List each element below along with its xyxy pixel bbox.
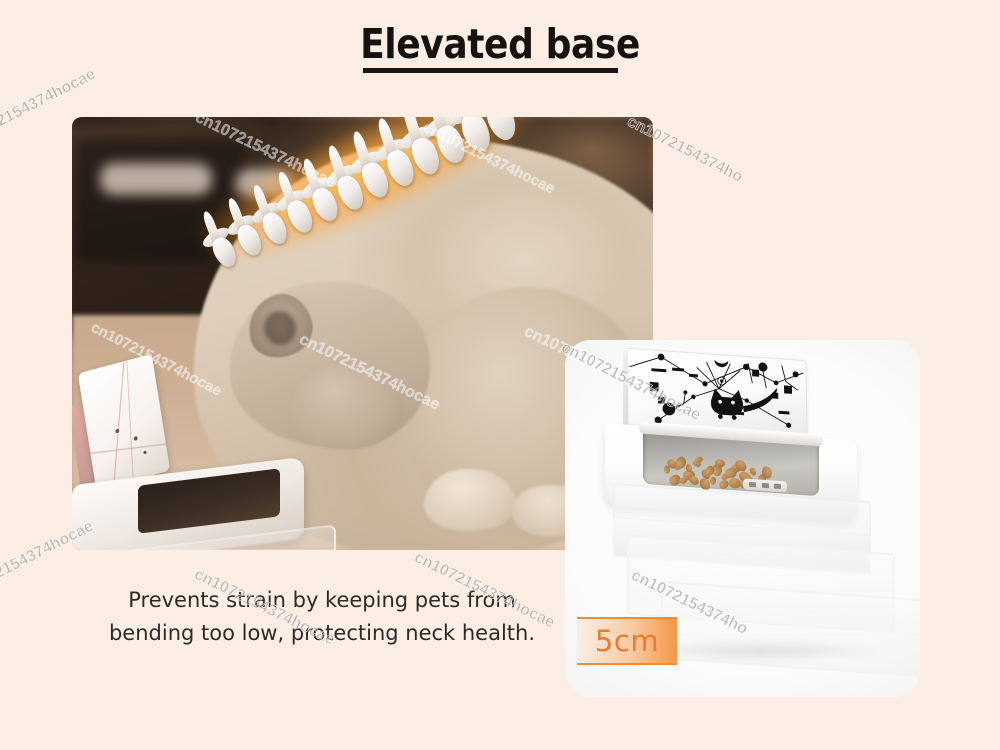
kibble-piece bbox=[688, 474, 701, 486]
page-root: Elevated base bbox=[0, 0, 1000, 750]
title-underline-rule bbox=[363, 68, 618, 73]
cat-paw-front bbox=[424, 469, 516, 531]
product-base-tier-3 bbox=[661, 581, 920, 677]
size-badge: 5cm bbox=[577, 617, 677, 665]
page-title: Elevated base bbox=[360, 24, 640, 65]
kibble-piece bbox=[761, 466, 772, 479]
size-badge-label: 5cm bbox=[595, 627, 659, 656]
kibble-piece bbox=[709, 476, 717, 486]
control-button-3[interactable] bbox=[774, 484, 781, 489]
caption-line-2: bending too low, protecting neck health. bbox=[72, 617, 572, 650]
title-block: Elevated base bbox=[0, 24, 1000, 65]
hero-feeder bbox=[72, 363, 372, 550]
control-button-1[interactable] bbox=[749, 482, 756, 487]
control-button-2[interactable] bbox=[762, 483, 769, 488]
caption-line-1: Prevents strain by keeping pets from bbox=[72, 584, 572, 617]
caption: Prevents strain by keeping pets from ben… bbox=[72, 584, 572, 649]
kibble-piece bbox=[679, 478, 688, 484]
